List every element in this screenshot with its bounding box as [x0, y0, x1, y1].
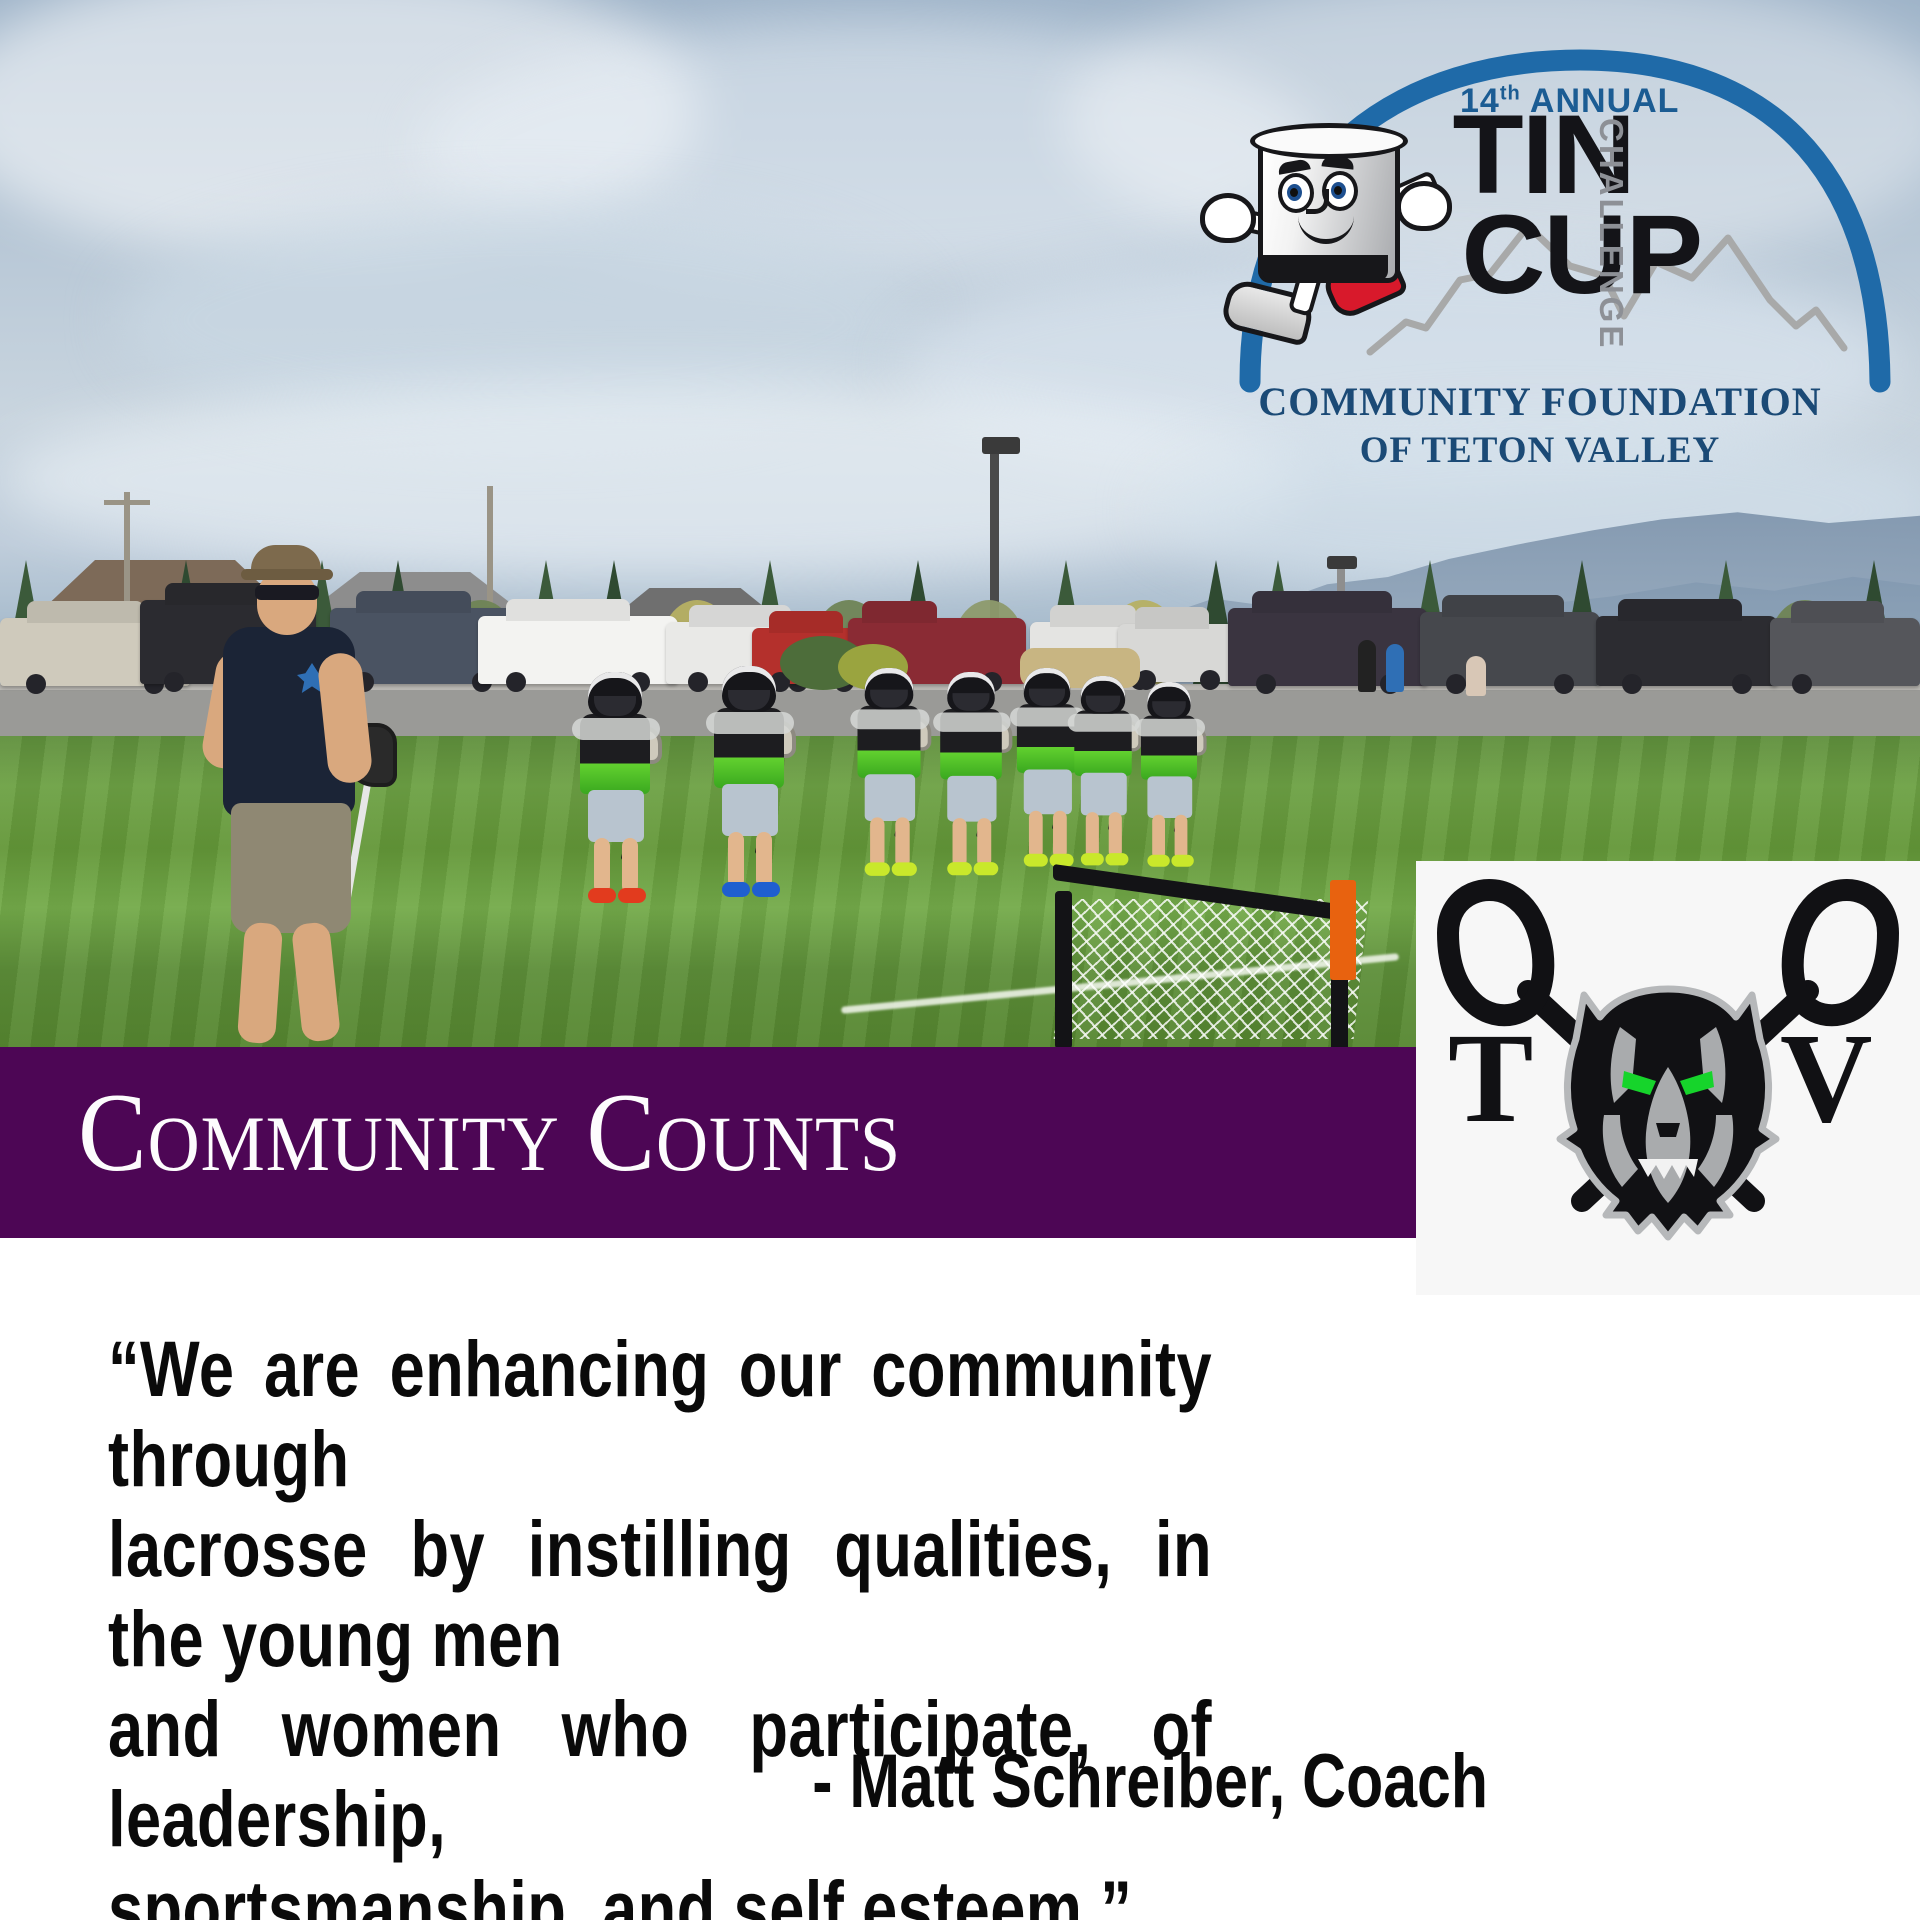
foundation-line-2: OF TETON VALLEY [1160, 429, 1920, 472]
quote-line-1: “We are enhancing our community through [108, 1324, 1212, 1504]
community-counts-banner: COMMUNITY COUNTS [0, 1047, 1416, 1238]
logo-word-challenge: CHALLENGE [1592, 118, 1630, 350]
running-tin-cup-mascot-icon [1200, 105, 1440, 335]
orange-marker [1330, 880, 1356, 980]
parked-suv [1420, 612, 1600, 686]
banner-title-text: COMMUNITY COUNTS [78, 1071, 901, 1195]
utility-crossarm [104, 500, 150, 505]
team-letter-T: T [1448, 1007, 1533, 1149]
spectator [1466, 656, 1486, 696]
poster-canvas: 14th ANNUAL TIN CUP CHALLENGE COMMUNITY … [0, 0, 1920, 1920]
tin-cup-challenge-logo: 14th ANNUAL TIN CUP CHALLENGE COMMUNITY … [1160, 30, 1920, 480]
quote-line-4: sportsmanship, and self esteem.” [108, 1864, 1212, 1920]
spectator [1386, 644, 1404, 692]
community-foundation-wordmark: COMMUNITY FOUNDATION OF TETON VALLEY [1160, 378, 1920, 472]
foundation-line-1: COMMUNITY FOUNDATION [1160, 378, 1920, 425]
quote-attribution: - Matt Schreiber, Coach [384, 1738, 1488, 1825]
parked-suv [1596, 616, 1778, 686]
crossed-lacrosse-sticks-icon: T V [1424, 871, 1912, 1281]
team-letter-V: V [1780, 1007, 1872, 1149]
banner-title: COMMUNITY COUNTS [78, 1069, 901, 1198]
quote-block: “We are enhancing our community through … [108, 1324, 1212, 1920]
logo-word-cup: CUP [1461, 208, 1701, 302]
lacrosse-coach [205, 545, 395, 1048]
team-logo-box: T V [1416, 861, 1920, 1295]
light-fixture [982, 437, 1020, 454]
parked-suv [1770, 618, 1920, 686]
quote-line-2: lacrosse by instilling qualities, in the… [108, 1504, 1212, 1684]
parked-car [478, 616, 678, 684]
spectator [1358, 640, 1376, 692]
